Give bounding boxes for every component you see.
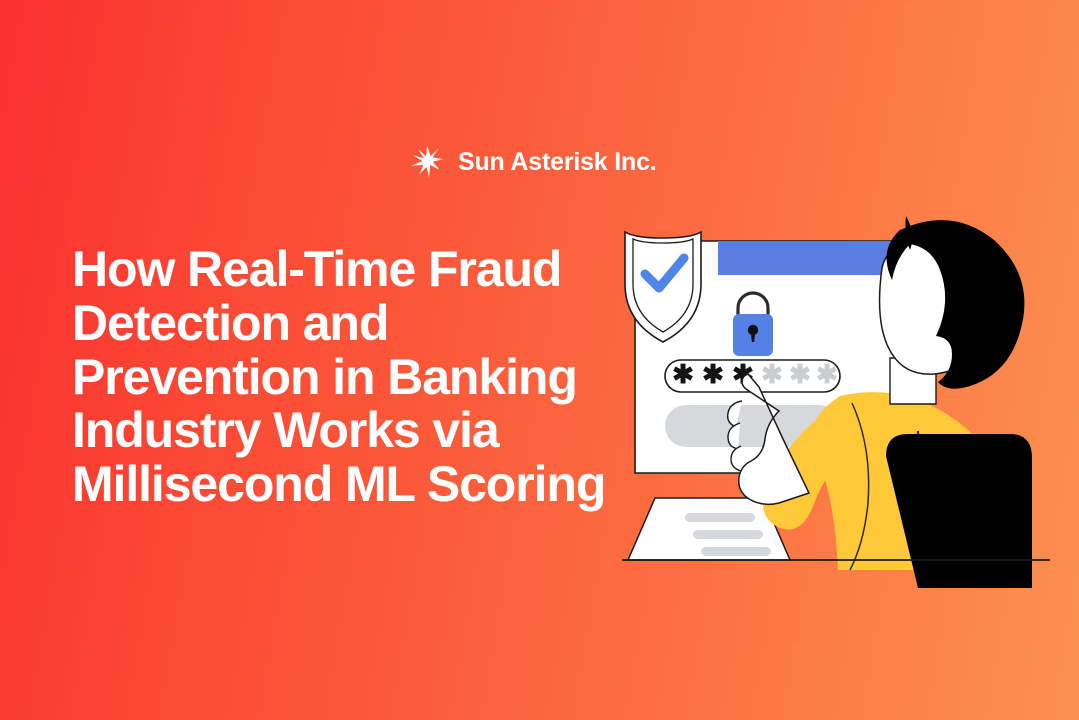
banner-root: Sun Asterisk Inc. How Real-Time Fraud De… xyxy=(0,0,1079,720)
password-empty-asterisks: ✱ ✱ ✱ xyxy=(761,359,838,389)
svg-text:✱: ✱ xyxy=(816,359,838,389)
brand-logo[interactable]: Sun Asterisk Inc. xyxy=(410,145,657,179)
card-header-bar xyxy=(718,241,907,275)
asterisk-star-icon xyxy=(410,145,444,179)
svg-text:✱: ✱ xyxy=(672,359,694,389)
secure-login-illustration: ✱ ✱ ✱ ✱ ✱ ✱ xyxy=(600,208,1050,588)
password-filled-asterisks: ✱ ✱ ✱ xyxy=(672,359,754,389)
brand-name: Sun Asterisk Inc. xyxy=(458,150,657,175)
svg-text:✱: ✱ xyxy=(789,359,811,389)
svg-text:✱: ✱ xyxy=(702,359,724,389)
page-title: How Real-Time Fraud Detection and Preven… xyxy=(72,243,612,512)
svg-text:✱: ✱ xyxy=(761,359,783,389)
